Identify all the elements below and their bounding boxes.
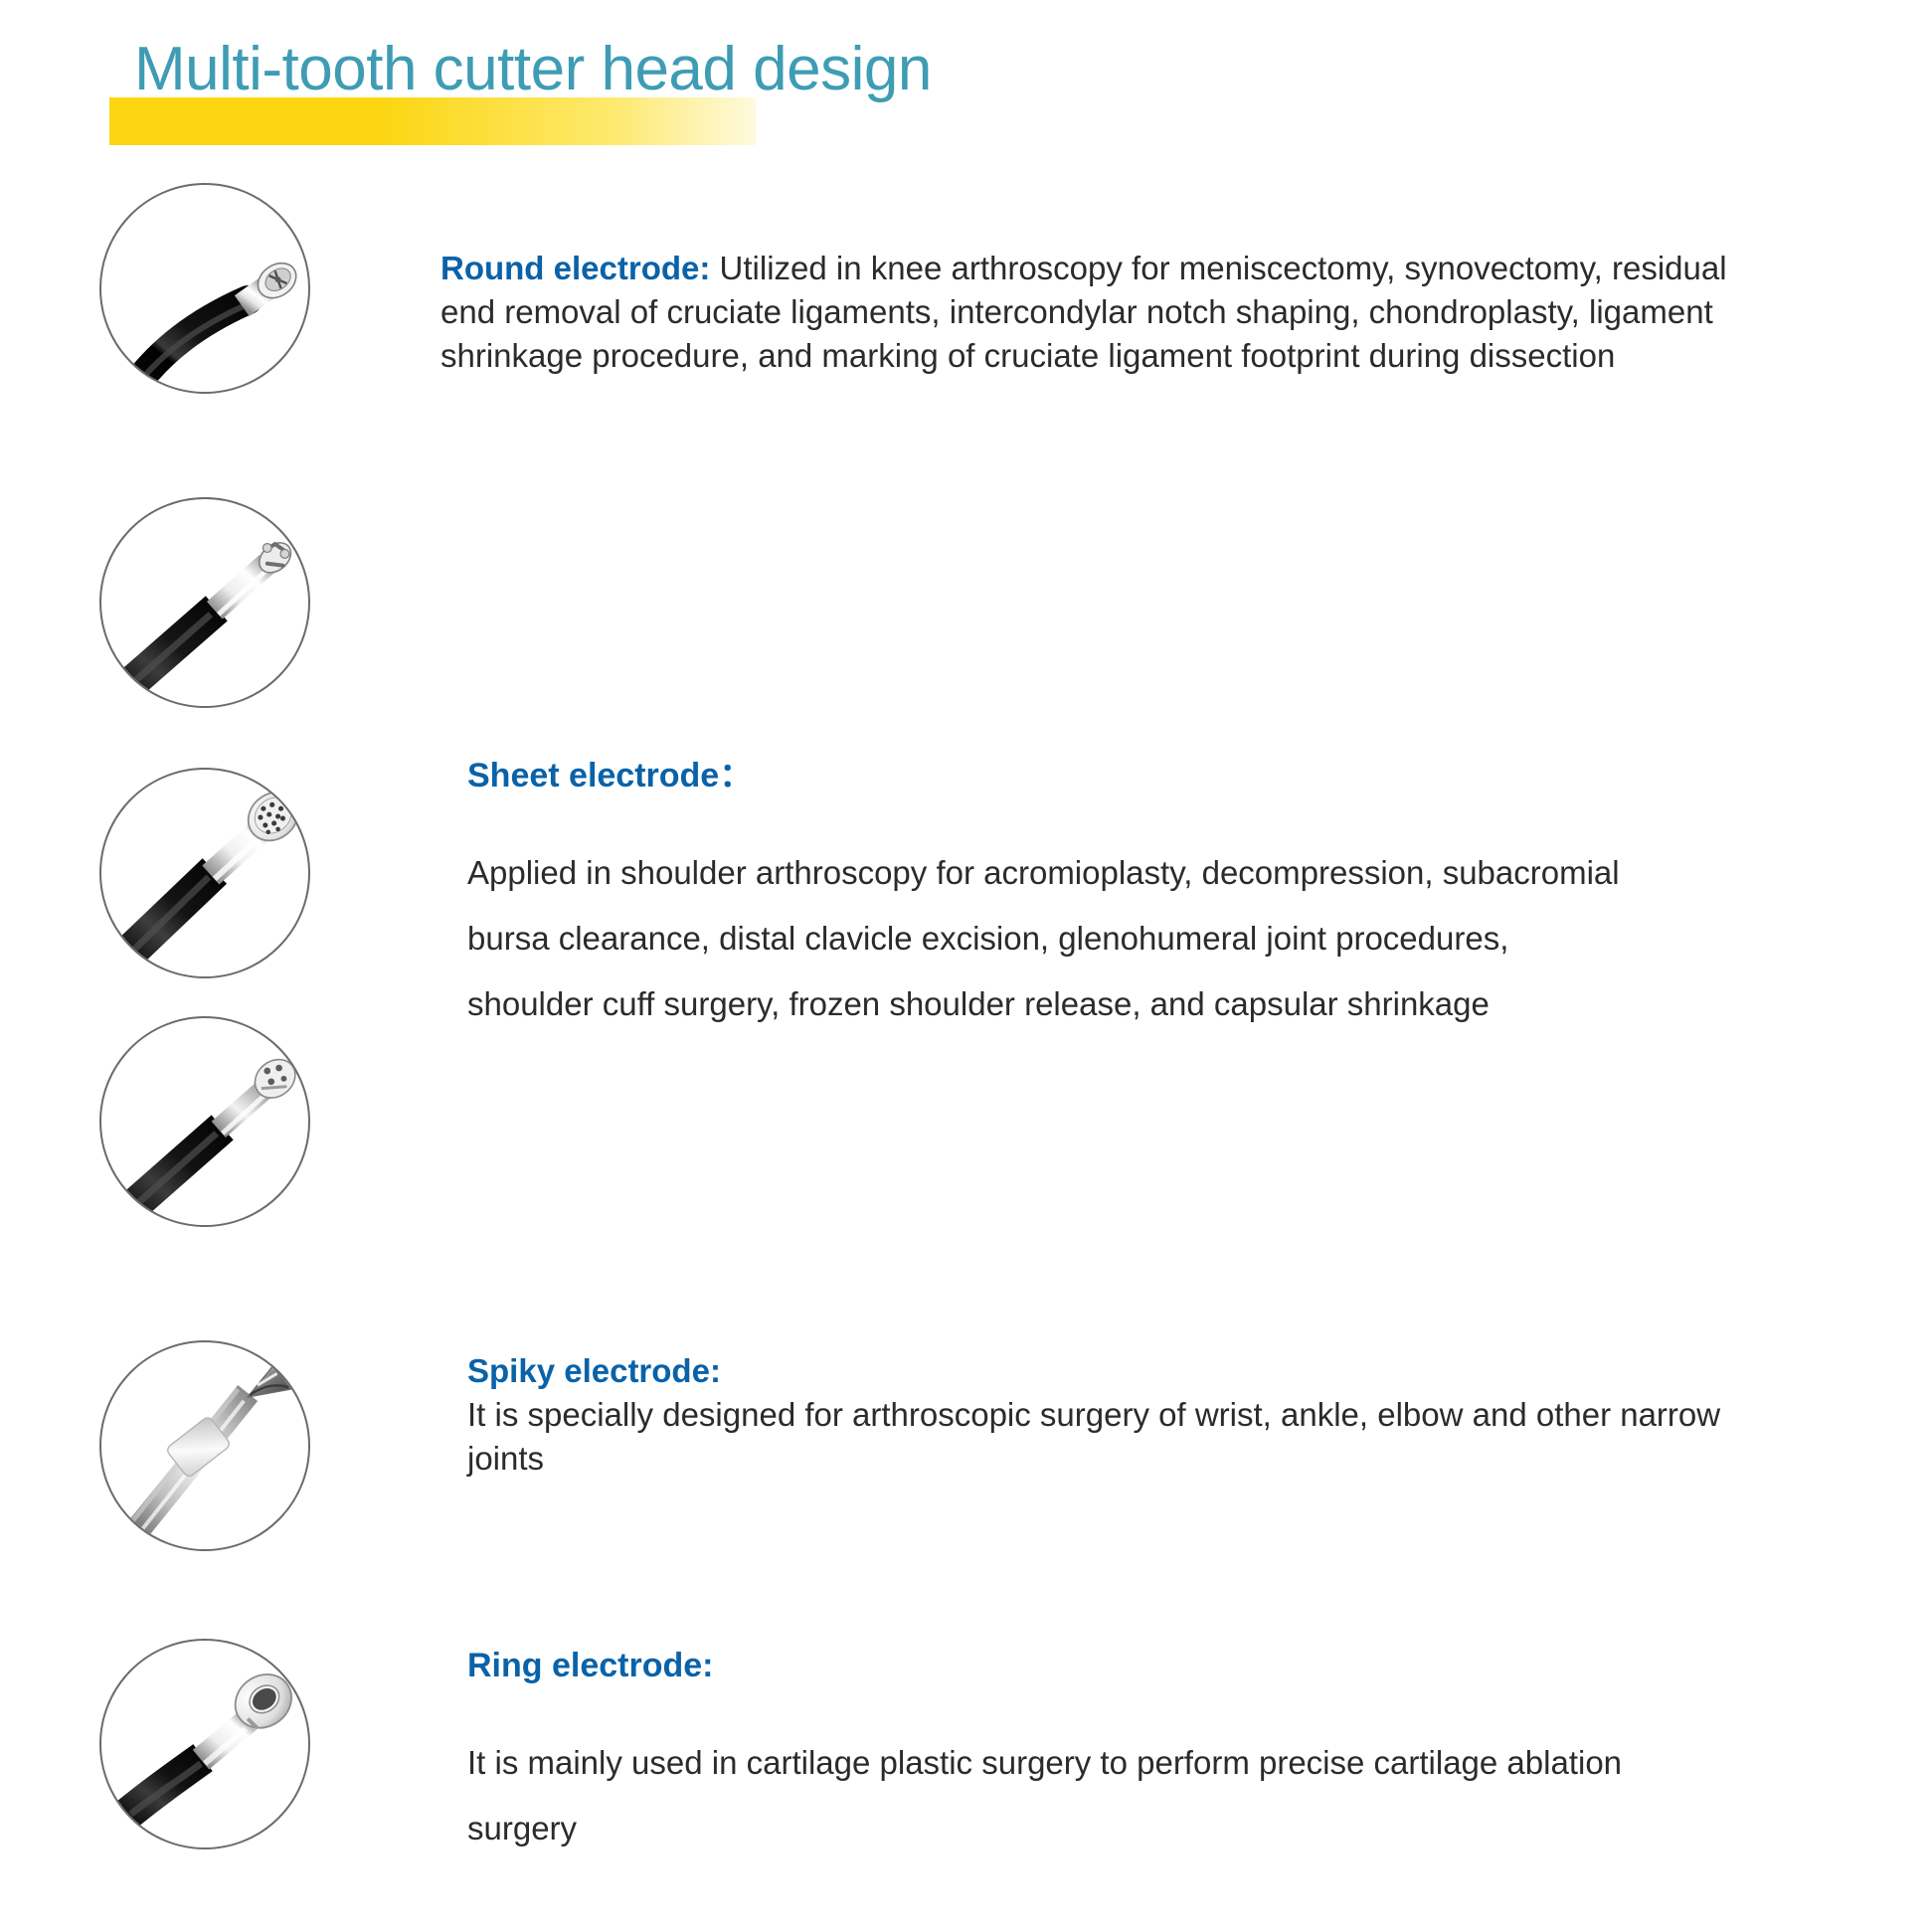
section-ring-electrode-lead: Ring electrode: (467, 1646, 713, 1686)
section-spiky-electrode: Spiky electrode: It is specially designe… (467, 1349, 1740, 1481)
section-spiky-electrode-lead: Spiky electrode: (467, 1349, 1740, 1393)
page-header: Multi-tooth cutter head design (0, 0, 1932, 174)
section-ring-electrode-body: It is mainly used in cartilage plastic s… (467, 1730, 1661, 1861)
photo-ring-electrode (99, 1639, 310, 1849)
photo-spiky-electrode (99, 1340, 310, 1551)
section-sheet-electrode-lead: Sheet electrode： (467, 756, 753, 796)
photo-sheet-electrode-2 (99, 1016, 310, 1227)
photo-round-electrode-2 (99, 497, 310, 708)
section-spiky-electrode-body: It is specially designed for arthroscopi… (467, 1396, 1720, 1477)
section-sheet-electrode-body: Applied in shoulder arthroscopy for acro… (467, 840, 1641, 1037)
section-round-electrode: Round electrode: Utilized in knee arthro… (440, 247, 1778, 378)
page-title: Multi-tooth cutter head design (134, 36, 932, 103)
title-highlight-bar (109, 97, 756, 145)
section-round-electrode-lead: Round electrode: (440, 250, 710, 286)
photo-round-electrode-1 (99, 183, 310, 394)
photo-sheet-electrode (99, 768, 310, 978)
